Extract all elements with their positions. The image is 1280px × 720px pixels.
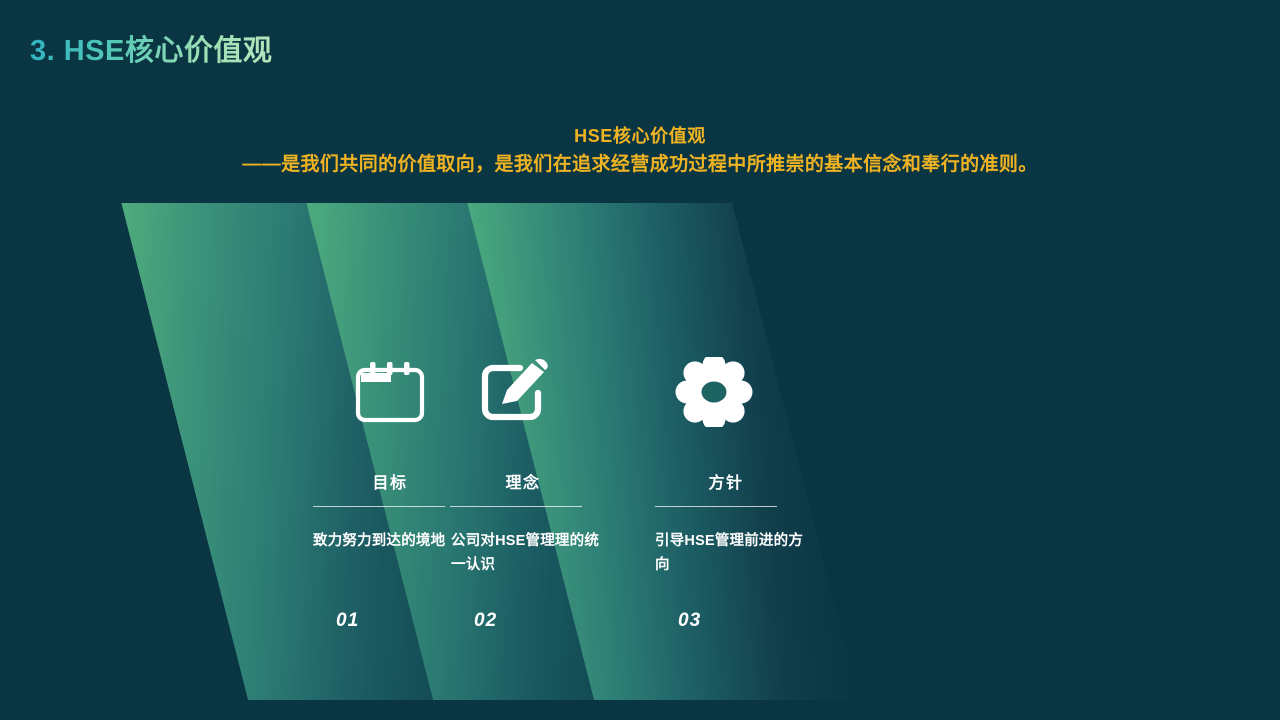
edit-pencil-icon <box>462 355 632 429</box>
value-description-1: 致力努力到达的境地 <box>313 530 463 554</box>
divider-2 <box>450 506 582 507</box>
value-label-3: 方针 <box>641 469 811 493</box>
value-label-2: 理念 <box>438 469 608 493</box>
subtitle-block: HSE核心价值观 ——是我们共同的价值取向，是我们在追求经营成功过程中所推崇的基… <box>0 124 1280 179</box>
value-column-policy: 方针 引导HSE管理前进的方向 03 <box>627 203 797 700</box>
value-description-2: 公司对HSE管理理的统一认识 <box>451 530 601 578</box>
page-title: 3. HSE核心价值观 <box>30 27 272 69</box>
divider-3 <box>655 506 777 507</box>
value-description-3: 引导HSE管理前进的方向 <box>655 530 805 578</box>
gear-icon <box>627 355 797 429</box>
value-columns: 目标 致力努力到达的境地 01 理念 公司对HSE管理理的统一认识 02 <box>0 203 1280 700</box>
value-column-goal: 目标 致力努力到达的境地 01 <box>305 203 475 700</box>
value-column-philosophy: 理念 公司对HSE管理理的统一认识 02 <box>462 203 632 700</box>
calendar-icon <box>305 355 475 429</box>
value-number-2: 02 <box>474 610 497 632</box>
value-number-1: 01 <box>336 610 359 632</box>
value-number-3: 03 <box>678 610 701 632</box>
subtitle-description: ——是我们共同的价值取向，是我们在追求经营成功过程中所推崇的基本信念和奉行的准则… <box>0 152 1280 179</box>
subtitle-heading: HSE核心价值观 <box>0 124 1280 150</box>
divider-1 <box>313 506 445 507</box>
